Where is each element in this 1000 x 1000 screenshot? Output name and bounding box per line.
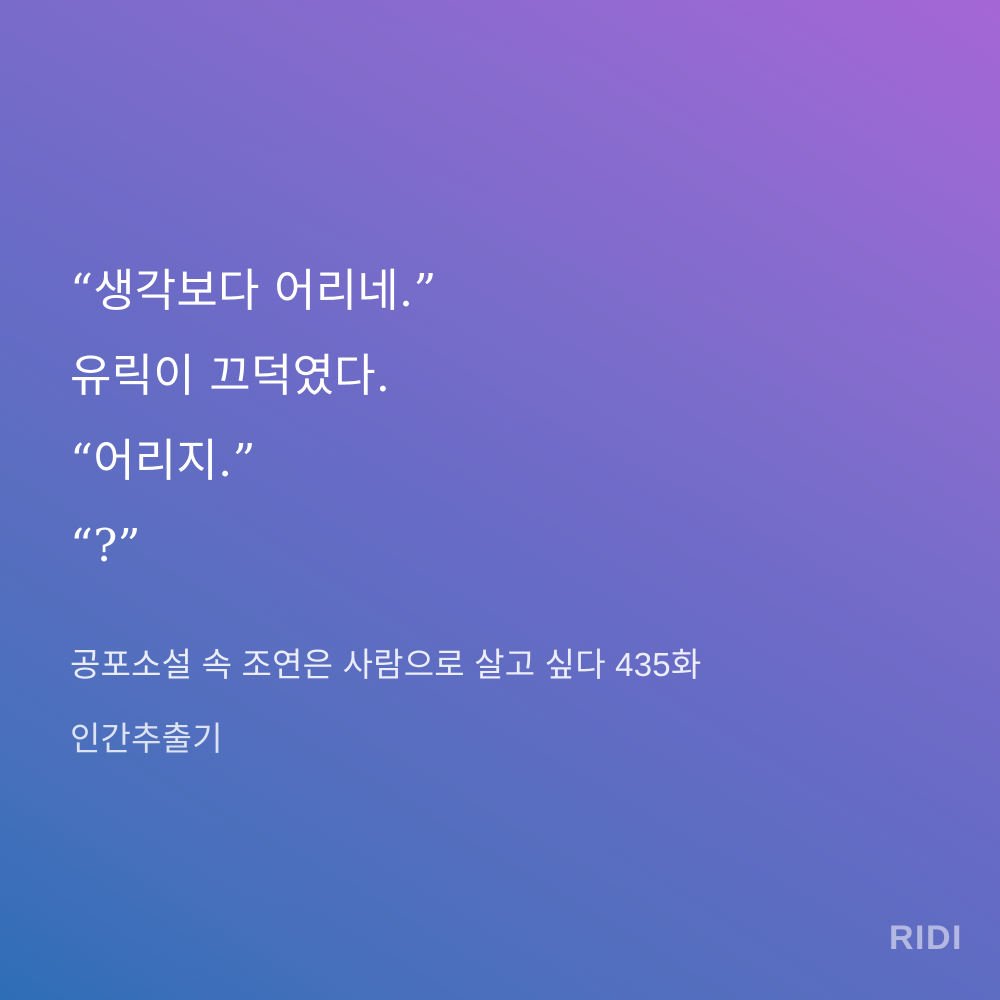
metadata-block: 공포소설 속 조연은 사람으로 살고 싶다 435화 인간추출기: [70, 640, 950, 764]
quote-line: “?”: [70, 503, 930, 588]
quote-line: 유릭이 끄덕였다.: [70, 333, 930, 418]
quote-card: “생각보다 어리네.” 유릭이 끄덕였다. “어리지.” “?” 공포소설 속 …: [0, 0, 1000, 1000]
quote-line: “생각보다 어리네.”: [70, 248, 930, 333]
book-author: 인간추출기: [70, 714, 950, 764]
ridi-logo: RIDI: [889, 919, 963, 958]
quote-line: “어리지.”: [70, 418, 930, 503]
book-title: 공포소설 속 조연은 사람으로 살고 싶다 435화: [70, 640, 950, 690]
quote-block: “생각보다 어리네.” 유릭이 끄덕였다. “어리지.” “?”: [70, 248, 930, 588]
